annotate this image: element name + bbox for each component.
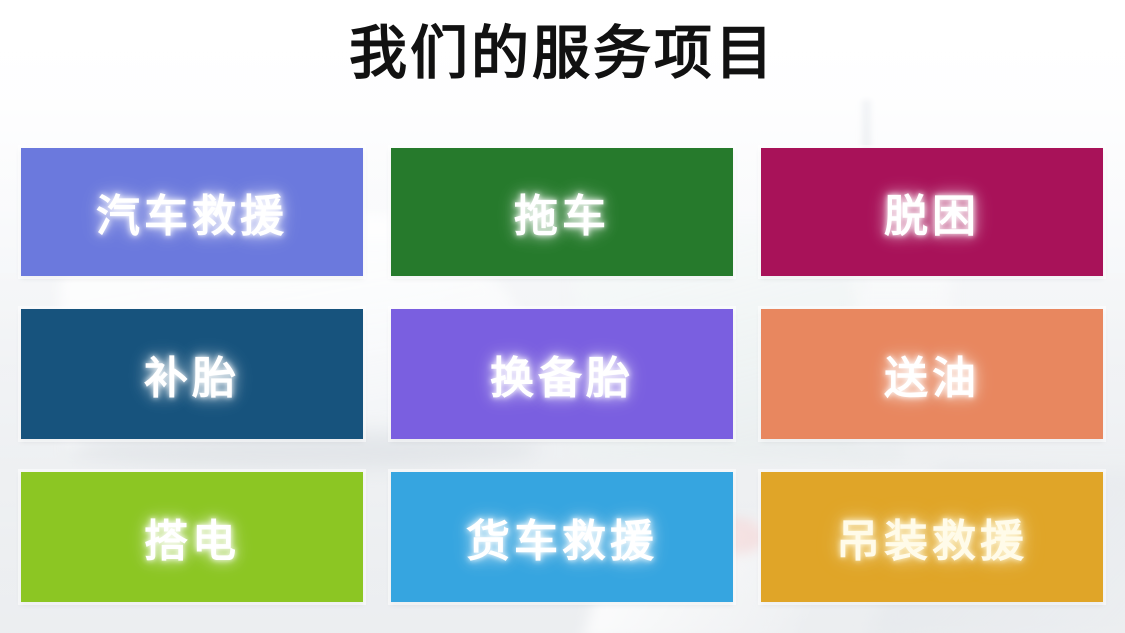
page-title: 我们的服务项目 — [0, 20, 1125, 88]
service-tile[interactable]: 拖车 — [391, 148, 733, 276]
service-tile-label: 脱困 — [884, 180, 980, 244]
service-tile-label: 搭电 — [144, 505, 240, 569]
service-grid: 汽车救援拖车脱困补胎换备胎送油搭电货车救援吊装救援 — [21, 148, 1103, 602]
service-tile-label: 换备胎 — [490, 342, 634, 406]
service-tile[interactable]: 换备胎 — [391, 309, 733, 439]
service-tile-label: 送油 — [884, 342, 980, 406]
service-tile[interactable]: 汽车救援 — [21, 148, 363, 276]
service-tile-label: 补胎 — [144, 342, 240, 406]
service-tile-label: 拖车 — [514, 180, 610, 244]
service-tile-label: 吊装救援 — [836, 505, 1028, 569]
service-tile[interactable]: 送油 — [761, 309, 1103, 439]
service-tile-label: 货车救援 — [466, 505, 658, 569]
service-tile[interactable]: 吊装救援 — [761, 472, 1103, 602]
service-tile[interactable]: 货车救援 — [391, 472, 733, 602]
service-tile[interactable]: 搭电 — [21, 472, 363, 602]
service-poster: 我们的服务项目 汽车救援拖车脱困补胎换备胎送油搭电货车救援吊装救援 — [0, 0, 1125, 633]
service-tile[interactable]: 补胎 — [21, 309, 363, 439]
service-tile-label: 汽车救援 — [96, 180, 288, 244]
service-tile[interactable]: 脱困 — [761, 148, 1103, 276]
